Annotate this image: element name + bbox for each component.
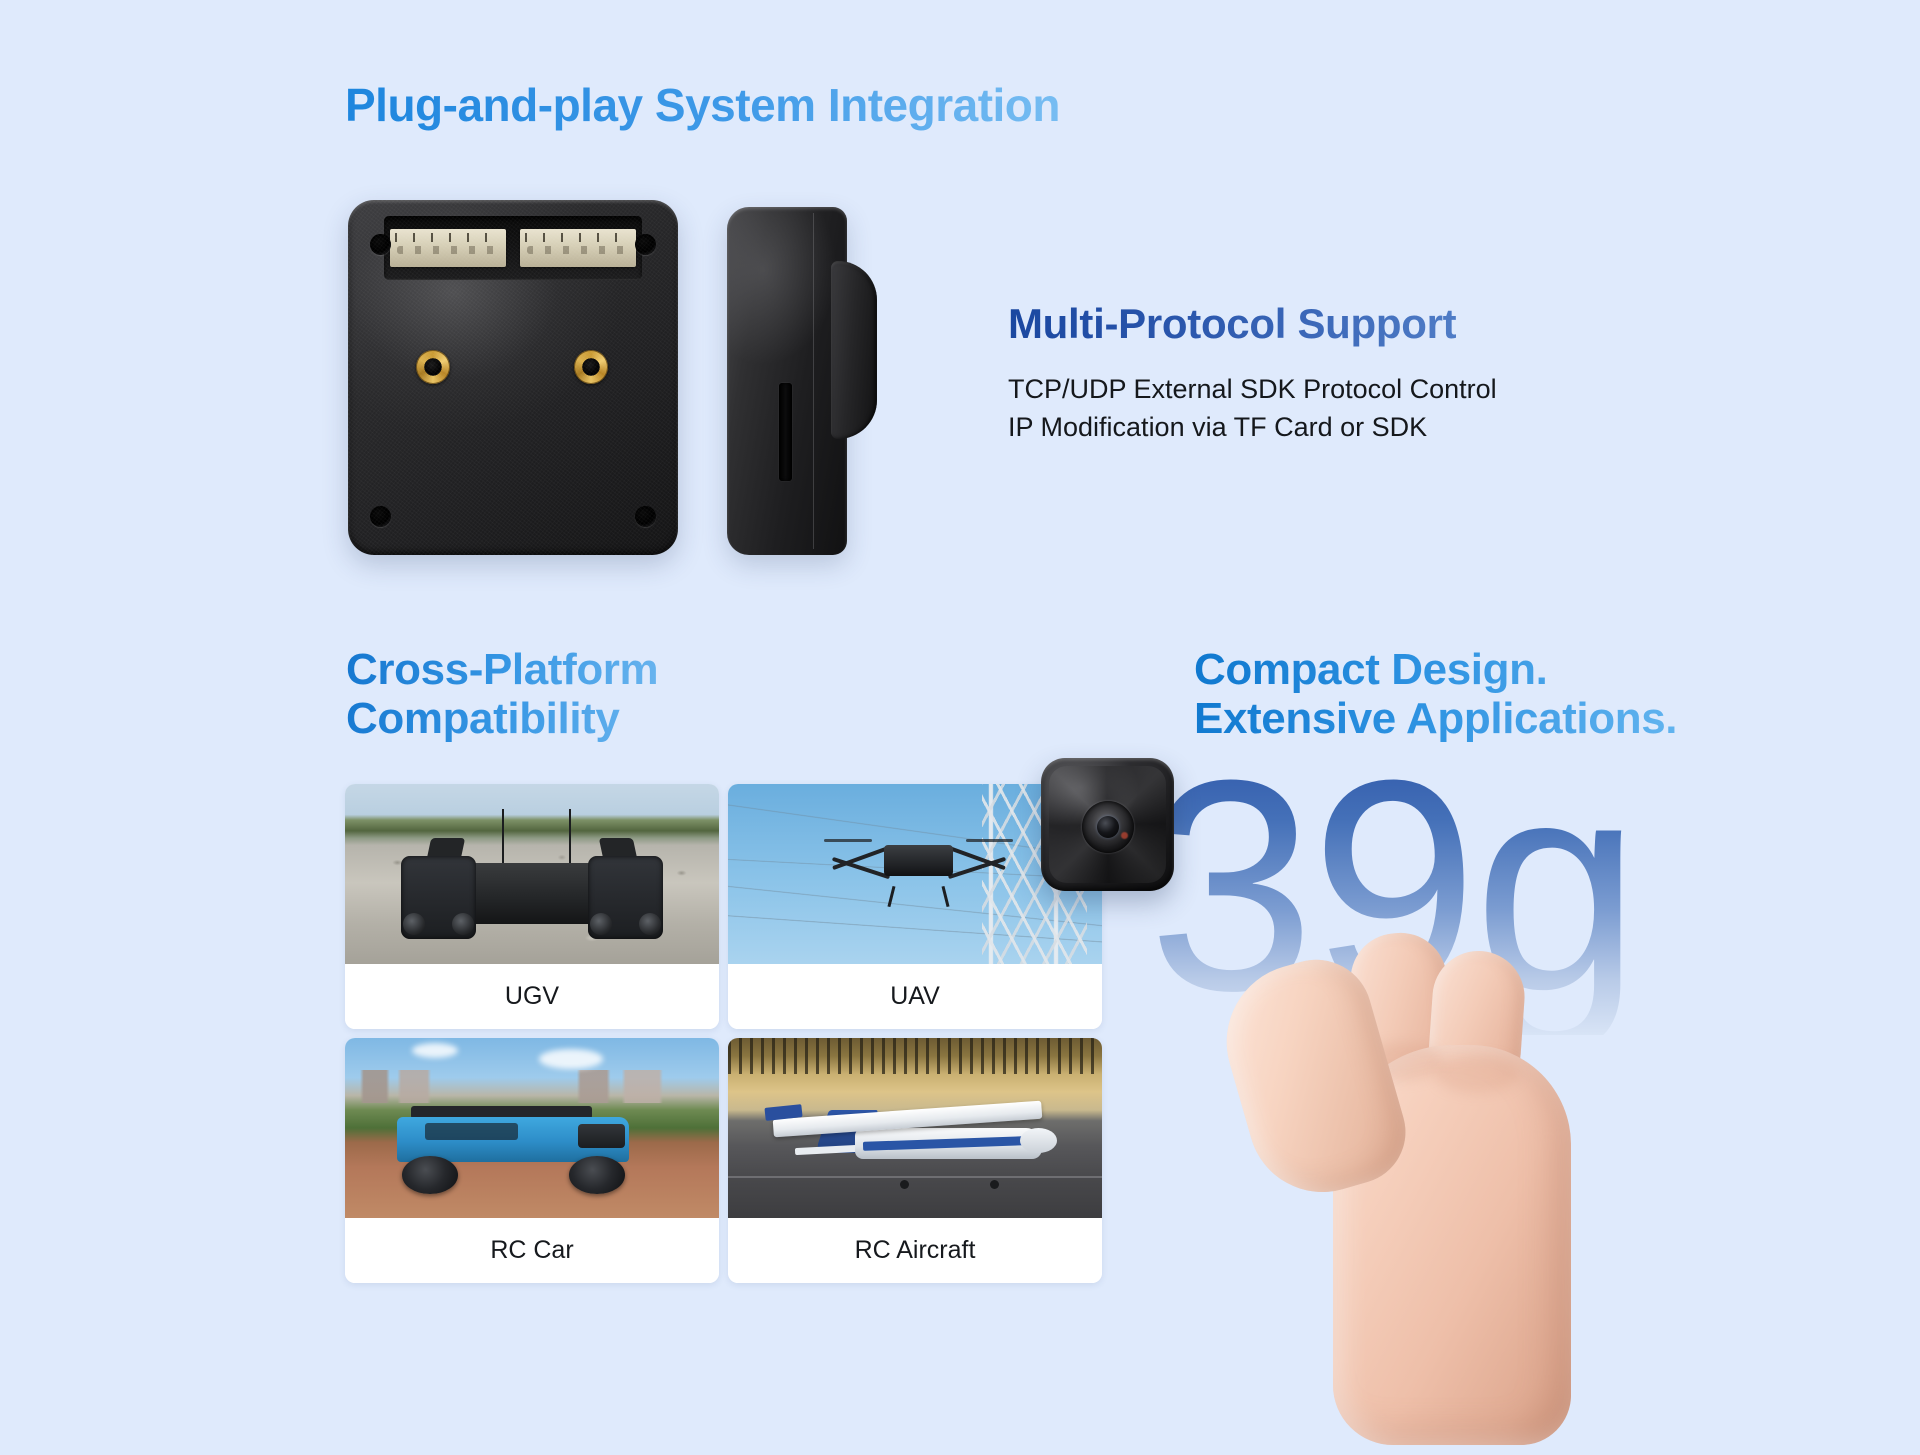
drone-arm <box>832 857 890 879</box>
track-wheel <box>403 913 425 935</box>
card-label-rc-aircraft: RC Aircraft <box>728 1218 1102 1283</box>
track-wheel <box>590 913 612 935</box>
runway-line <box>728 1176 1102 1178</box>
knuckle-shading <box>1435 1055 1519 1093</box>
card-label-rc-car: RC Car <box>345 1218 719 1283</box>
city-skyline <box>345 1070 719 1102</box>
plug-and-play-heading: Plug-and-play System Integration <box>345 78 1060 132</box>
hand-holding-camera-image <box>1255 925 1685 1455</box>
card-label-uav: UAV <box>728 964 1102 1029</box>
landing-gear <box>900 1180 909 1189</box>
cloud <box>539 1049 603 1069</box>
propeller-icon <box>824 839 871 842</box>
truck-grille <box>578 1124 624 1148</box>
truck-window <box>425 1123 518 1140</box>
cross-platform-heading-line-2: Compatibility <box>346 694 658 743</box>
multi-protocol-heading: Multi-Protocol Support <box>1008 300 1456 348</box>
truck-tyre-front <box>569 1156 625 1193</box>
cross-platform-heading-line-1: Cross-Platform <box>346 645 658 694</box>
case-seam-line <box>813 213 814 549</box>
track-wheel <box>452 913 474 935</box>
ugv-photo <box>345 784 719 964</box>
camera-module-front-view-image <box>348 200 678 555</box>
infographic-page: Plug-and-play System Integration Multi-P… <box>0 0 1920 1452</box>
background-fence <box>728 1038 1102 1074</box>
cross-platform-heading: Cross-Platform Compatibility <box>346 645 658 744</box>
drone-body <box>884 845 953 876</box>
card-rc-aircraft[interactable]: RC Aircraft <box>728 1038 1102 1283</box>
ugv-track-left <box>401 856 476 939</box>
brass-insert-right <box>574 350 608 384</box>
jst-connector-right <box>520 229 636 267</box>
camera-lens-icon <box>1082 801 1134 853</box>
track-wheel <box>639 913 661 935</box>
tf-card-slot <box>779 383 792 481</box>
compatibility-card-grid: UGV UAV <box>345 784 1102 1283</box>
ugv-track-right <box>588 856 663 939</box>
card-rc-car[interactable]: RC Car <box>345 1038 719 1283</box>
screw-hole-bottom-right <box>635 506 656 527</box>
lens-bulge <box>831 261 877 439</box>
nose-cone <box>1020 1128 1057 1153</box>
mini-camera-module-image <box>1041 758 1174 891</box>
landing-gear <box>990 1180 999 1189</box>
multi-protocol-line-2: IP Modification via TF Card or SDK <box>1008 410 1497 446</box>
compact-design-heading-line-1: Compact Design. <box>1194 645 1677 694</box>
propeller-icon <box>966 839 1013 842</box>
rc-crawler-truck <box>397 1117 629 1189</box>
card-ugv[interactable]: UGV <box>345 784 719 1029</box>
cloud <box>412 1043 458 1058</box>
truck-tyre-rear <box>402 1156 458 1193</box>
card-label-ugv: UGV <box>345 964 719 1029</box>
rc-aircraft-photo <box>728 1038 1102 1218</box>
side-body <box>727 207 847 555</box>
brass-insert-left <box>416 350 450 384</box>
multi-protocol-body: TCP/UDP External SDK Protocol Control IP… <box>1008 372 1497 447</box>
camera-module-side-view-image <box>727 207 872 555</box>
screw-hole-top-right <box>635 234 656 255</box>
jst-connector-left <box>390 229 506 267</box>
quadcopter-drone <box>840 831 997 892</box>
multi-protocol-line-1: TCP/UDP External SDK Protocol Control <box>1008 372 1497 408</box>
rc-car-photo <box>345 1038 719 1218</box>
screw-hole-bottom-left <box>370 506 391 527</box>
screw-hole-top-left <box>370 234 391 255</box>
connector-bay <box>384 216 642 280</box>
